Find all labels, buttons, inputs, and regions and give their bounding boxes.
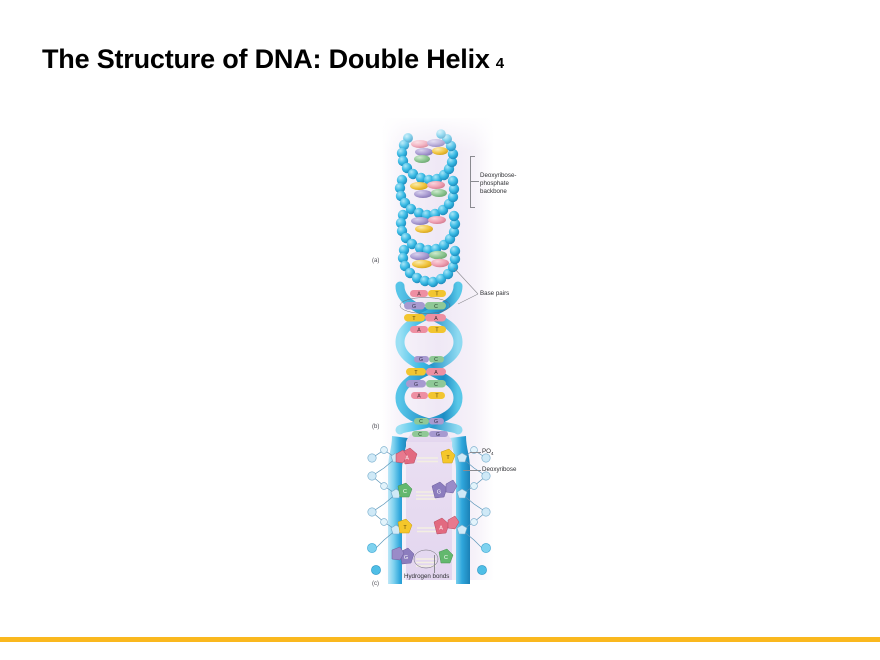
svg-text:G: G: [414, 382, 418, 388]
svg-text:G: G: [434, 419, 438, 425]
svg-text:G: G: [419, 357, 423, 363]
svg-text:G: G: [404, 555, 408, 561]
panel-b-ribbon: A T G C T A A: [400, 286, 458, 430]
svg-text:C: C: [444, 555, 448, 561]
label-deoxyribose-phosphate-backbone: Deoxyribose- phosphate backbone: [480, 172, 516, 197]
label-po4: PO4: [482, 448, 494, 458]
backbone-bracket-stem: [470, 181, 479, 182]
svg-text:A: A: [434, 370, 438, 376]
panel-a-spacefill: [382, 118, 494, 287]
svg-text:G: G: [437, 490, 441, 496]
dna-figure: A T G C T A A: [362, 118, 542, 596]
backbone-label-line2: phosphate: [480, 180, 516, 188]
panel-label-b: (b): [372, 424, 379, 430]
hydrogen-bonds-leader-line: [434, 555, 435, 573]
svg-text:C: C: [434, 304, 438, 310]
svg-text:C: C: [419, 419, 423, 425]
label-base-pairs: Base pairs: [480, 290, 509, 298]
label-hydrogen-bonds: Hydrogen bonds: [404, 573, 449, 581]
po4-subscript: 4: [491, 451, 494, 456]
panel-label-a: (a): [372, 258, 379, 264]
svg-text:A: A: [439, 526, 443, 532]
svg-text:A: A: [417, 394, 421, 400]
svg-text:A: A: [417, 292, 421, 298]
backbone-bracket-bottom: [470, 207, 475, 208]
backbone-bracket-top: [470, 156, 475, 157]
bottom-accent-bar: [0, 637, 880, 642]
svg-text:A: A: [434, 316, 438, 322]
backbone-label-line3: backbone: [480, 188, 516, 196]
page-title-number: 4: [496, 55, 504, 72]
backbone-bracket-vertical: [470, 156, 471, 208]
svg-text:C: C: [403, 489, 407, 495]
svg-text:G: G: [412, 304, 416, 310]
svg-text:C: C: [434, 357, 438, 363]
page-title: The Structure of DNA: Double Helix4: [42, 44, 504, 75]
svg-text:C: C: [418, 432, 422, 438]
page-title-text: The Structure of DNA: Double Helix: [42, 44, 490, 74]
svg-text:C: C: [434, 382, 438, 388]
label-deoxyribose: Deoxyribose: [482, 466, 516, 474]
backbone-label-line1: Deoxyribose-: [480, 172, 516, 180]
svg-text:G: G: [436, 432, 440, 438]
panel-label-c: (c): [372, 581, 379, 587]
svg-text:A: A: [417, 328, 421, 334]
panel-c-chemical: C G A: [367, 430, 490, 584]
deoxyribose-leader-line: [463, 470, 481, 471]
po4-text: PO: [482, 448, 491, 455]
svg-text:A: A: [405, 456, 409, 462]
po4-leader-line: [470, 452, 481, 453]
